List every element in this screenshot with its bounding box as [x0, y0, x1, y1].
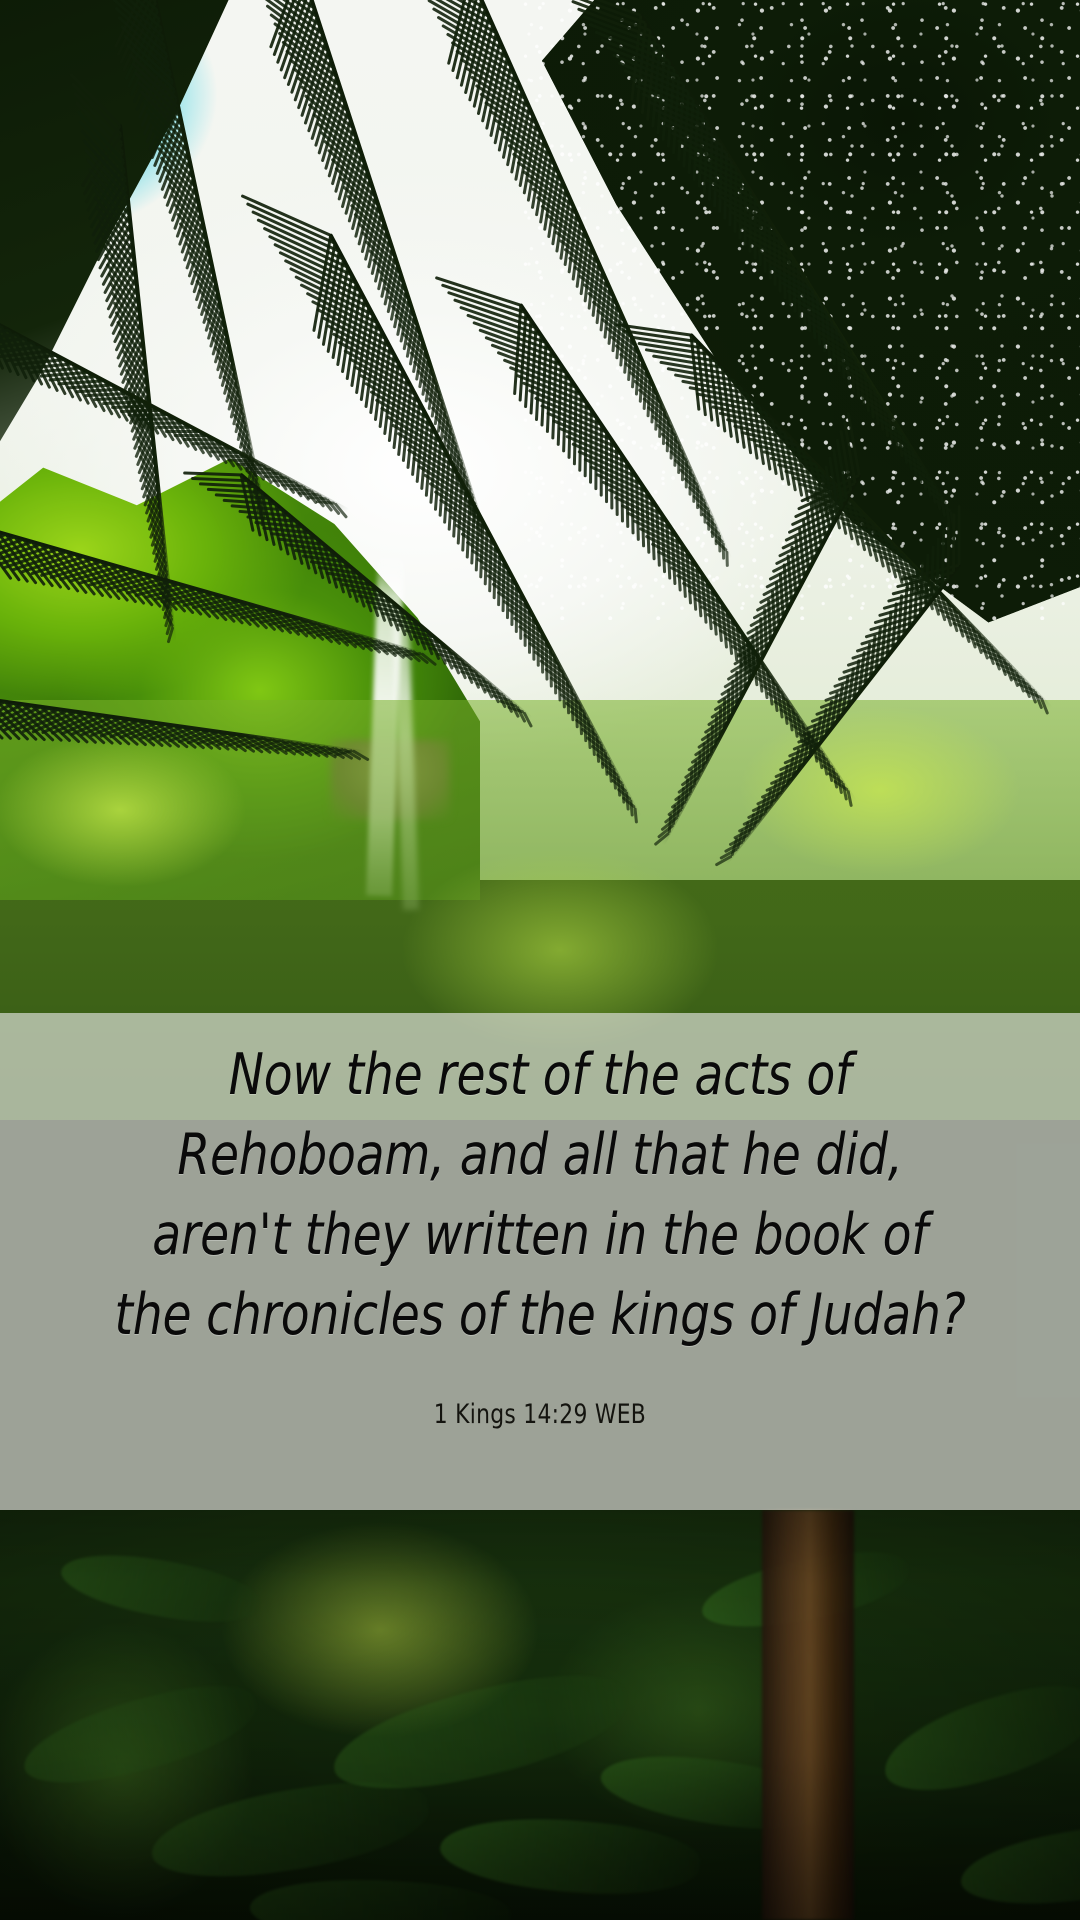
wallpaper-canvas: Now the rest of the acts of Rehoboam, an… — [0, 0, 1080, 1920]
verse-overlay-panel: Now the rest of the acts of Rehoboam, an… — [0, 1013, 1080, 1510]
verse-reference: 1 Kings 14:29 WEB — [434, 1355, 646, 1430]
background-photo — [0, 0, 1080, 1920]
canopy-light-speckle — [520, 0, 1080, 620]
verse-text: Now the rest of the acts of Rehoboam, an… — [108, 1035, 973, 1355]
jungle-shading — [0, 1510, 1080, 1920]
